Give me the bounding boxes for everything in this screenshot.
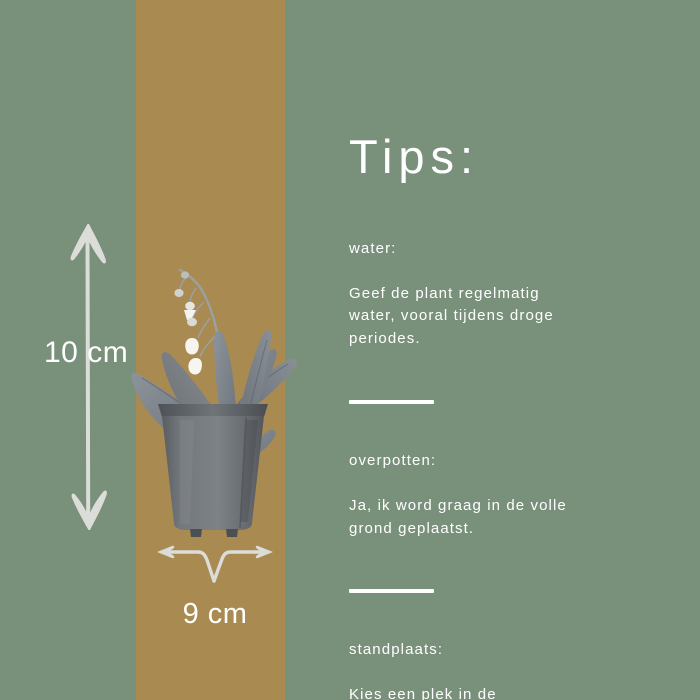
height-measure-arrow bbox=[52, 222, 126, 532]
tip-label-standplaats: standplaats: bbox=[349, 639, 669, 662]
width-measure-arrow bbox=[156, 540, 274, 588]
tip-body-overpotten: Ja, ik word graag in de volle grond gepl… bbox=[349, 495, 669, 540]
width-measure-label: 9 cm bbox=[156, 598, 274, 631]
tip-body-water: Geef de plant regelmatig water, vooral t… bbox=[349, 283, 669, 351]
height-measure-label: 10 cm bbox=[40, 336, 132, 370]
potted-plant-photo bbox=[128, 218, 298, 540]
tip-label-overpotten: overpotten: bbox=[349, 450, 669, 473]
tip-section-water: water: Geef de plant regelmatig water, v… bbox=[349, 215, 669, 373]
product-info-graphic: 10 cm 9 cm Tips: water: Geef de plant re… bbox=[0, 0, 700, 700]
tips-column: Tips: water: Geef de plant regelmatig wa… bbox=[349, 132, 669, 700]
tip-body-standplaats: Kies een plek in de schaduw of halfschad… bbox=[349, 684, 669, 700]
tip-section-standplaats: standplaats: Kies een plek in de schaduw… bbox=[349, 617, 669, 700]
tip-label-water: water: bbox=[349, 238, 669, 261]
tip-section-overpotten: overpotten: Ja, ik word graag in de voll… bbox=[349, 428, 669, 563]
page-title: Tips: bbox=[349, 132, 669, 181]
